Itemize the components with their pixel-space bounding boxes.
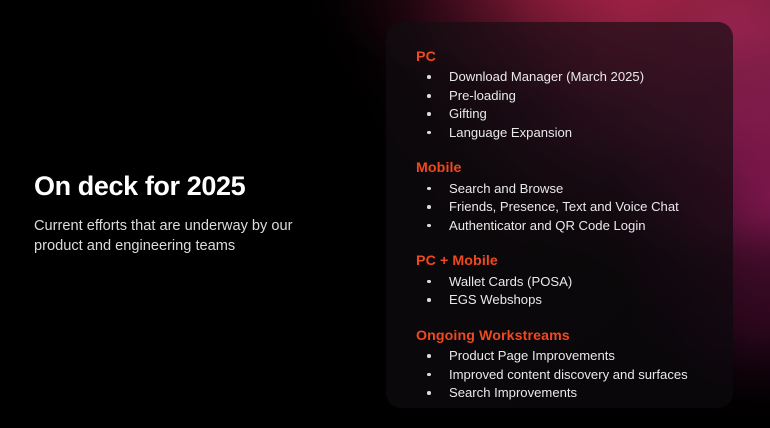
list-item: Wallet Cards (POSA) (416, 274, 715, 292)
list-item: Search Improvements (416, 385, 715, 403)
group-heading: Ongoing Workstreams (416, 327, 715, 345)
list-item: Download Manager (March 2025) (416, 69, 715, 87)
list-item: Improved content discovery and surfaces (416, 367, 715, 385)
title-block: On deck for 2025 Current efforts that ar… (34, 172, 354, 257)
list-item: Search and Browse (416, 181, 715, 199)
list-item: Gifting (416, 106, 715, 124)
group-list: Wallet Cards (POSA) EGS Webshops (416, 274, 715, 311)
group-ongoing-workstreams: Ongoing Workstreams Product Page Improve… (416, 327, 715, 404)
group-heading: PC (416, 48, 715, 66)
page-title: On deck for 2025 (34, 172, 354, 202)
list-item: EGS Webshops (416, 292, 715, 310)
group-list: Download Manager (March 2025) Pre-loadin… (416, 69, 715, 143)
group-list: Search and Browse Friends, Presence, Tex… (416, 181, 715, 236)
group-pc: PC Download Manager (March 2025) Pre-loa… (416, 48, 715, 143)
list-item: Friends, Presence, Text and Voice Chat (416, 199, 715, 217)
roadmap-card: PC Download Manager (March 2025) Pre-loa… (386, 22, 733, 408)
slide-root: On deck for 2025 Current efforts that ar… (0, 0, 770, 428)
group-heading: Mobile (416, 159, 715, 177)
group-mobile: Mobile Search and Browse Friends, Presen… (416, 159, 715, 236)
list-item: Pre-loading (416, 88, 715, 106)
group-pc-plus-mobile: PC + Mobile Wallet Cards (POSA) EGS Webs… (416, 252, 715, 310)
list-item: Authenticator and QR Code Login (416, 218, 715, 236)
list-item: Language Expansion (416, 125, 715, 143)
group-heading: PC + Mobile (416, 252, 715, 270)
list-item: Product Page Improvements (416, 348, 715, 366)
group-list: Product Page Improvements Improved conte… (416, 348, 715, 403)
page-subtitle: Current efforts that are underway by our… (34, 216, 334, 257)
